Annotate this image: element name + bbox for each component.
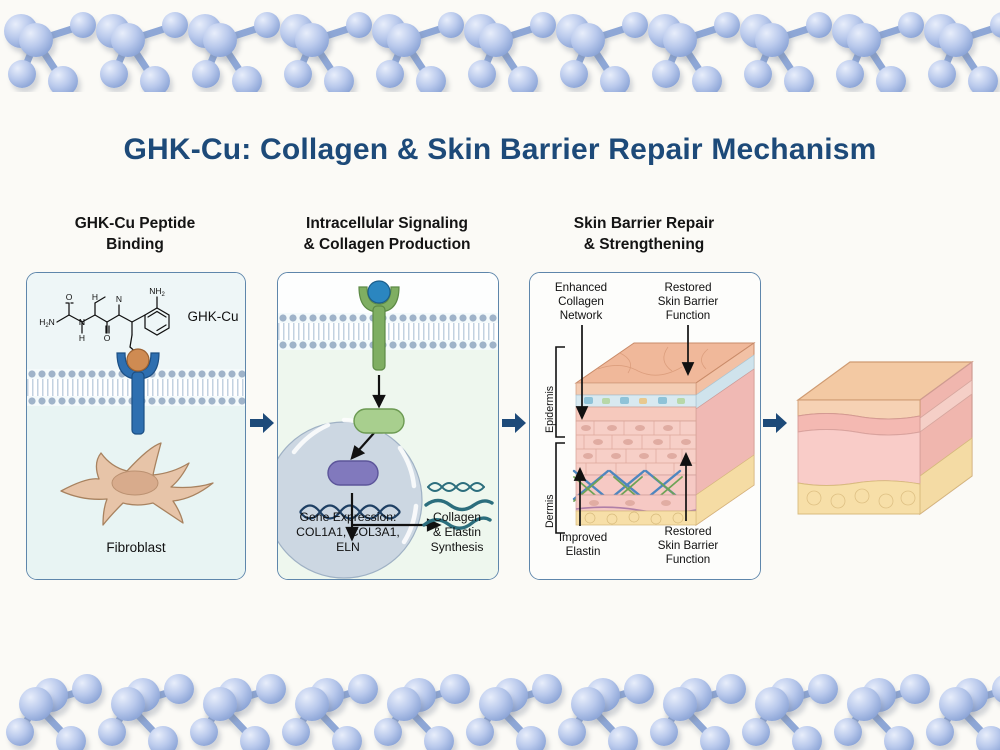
molecule-atom xyxy=(700,726,730,750)
molecule-atom xyxy=(232,66,262,92)
molecule-atom xyxy=(926,718,954,746)
decorative-molecule xyxy=(912,660,1000,750)
molecule-atom xyxy=(558,718,586,746)
molecule-central-atom xyxy=(295,23,329,57)
decorative-molecule xyxy=(728,0,824,86)
molecule-central-atom xyxy=(755,23,789,57)
molecule-central-atom xyxy=(387,687,421,721)
molecule-atom xyxy=(424,726,454,750)
molecule-atom xyxy=(884,726,914,750)
synthesis-line1: Collagen xyxy=(418,510,496,525)
molecule-atom xyxy=(600,66,630,92)
chem-label-nh-1: H xyxy=(79,333,85,343)
molecule-atom xyxy=(692,66,722,92)
molecule-central-atom xyxy=(479,23,513,57)
panel-heading-line1: Skin Barrier Repair xyxy=(528,213,760,234)
signal-protein-green xyxy=(354,409,404,433)
transcription-factor-purple xyxy=(328,461,378,485)
molecule-atom xyxy=(192,60,220,88)
molecule-atom xyxy=(6,718,34,746)
molecule-atom xyxy=(990,12,1000,38)
decorative-molecule xyxy=(0,660,88,750)
panel-heading-line2: & Strengthening xyxy=(528,234,760,255)
fibroblast-cell xyxy=(49,433,225,533)
panel-heading-peptide-binding: GHK-Cu Peptide Binding xyxy=(25,213,245,256)
molecule-central-atom xyxy=(203,687,237,721)
molecule-atom xyxy=(48,66,78,92)
diagram-canvas: GHK-Cu: Collagen & Skin Barrier Repair M… xyxy=(0,0,1000,750)
panel-heading-line1: GHK-Cu Peptide xyxy=(25,213,245,234)
molecule-central-atom xyxy=(111,23,145,57)
panel-skin-barrier-repair: Enhanced Collagen Network Restored Skin … xyxy=(529,272,761,580)
molecule-atom xyxy=(744,60,772,88)
molecule-central-atom xyxy=(387,23,421,57)
decorative-molecule xyxy=(820,660,916,750)
decorative-molecule xyxy=(636,0,732,86)
molecule-atom xyxy=(560,60,588,88)
molecule-atom xyxy=(240,726,270,750)
gene-expression-line2: COL1A1, COL3A1, xyxy=(284,525,412,540)
chem-label-h2n: H2N xyxy=(39,317,55,329)
decorative-molecule-band-top xyxy=(0,0,1000,92)
synthesis-line2: & Elastin xyxy=(418,525,496,540)
molecule-atom xyxy=(468,60,496,88)
molecule-atom xyxy=(282,718,310,746)
molecule-atom xyxy=(516,726,546,750)
molecule-central-atom xyxy=(111,687,145,721)
synthesis-label: Collagen & Elastin Synthesis xyxy=(418,510,496,555)
molecule-central-atom xyxy=(939,687,973,721)
leader-lines xyxy=(530,273,760,579)
molecule-atom xyxy=(374,718,402,746)
molecule-atom xyxy=(784,66,814,92)
molecule-central-atom xyxy=(755,687,789,721)
gene-expression-label: Gene Expression: COL1A1, COL3A1, ELN xyxy=(284,510,412,555)
molecule-atom xyxy=(652,60,680,88)
decorative-molecule xyxy=(452,0,548,86)
decorative-molecule xyxy=(636,660,732,750)
molecule-atom xyxy=(140,66,170,92)
molecule-atom xyxy=(968,66,998,92)
molecule-atom xyxy=(332,726,362,750)
molecule-atom xyxy=(98,718,126,746)
decorative-molecule xyxy=(544,0,640,86)
molecule-atom xyxy=(650,718,678,746)
decorative-molecule xyxy=(452,660,548,750)
panel-heading-line2: & Collagen Production xyxy=(275,234,499,255)
molecule-central-atom xyxy=(19,23,53,57)
decorative-molecule xyxy=(0,0,88,86)
panel-heading-skin-barrier-repair: Skin Barrier Repair & Strengthening xyxy=(528,213,760,256)
molecule-atom xyxy=(508,66,538,92)
molecule-atom xyxy=(976,726,1000,750)
chem-label-oxygen-2: O xyxy=(104,333,111,343)
molecule-atom xyxy=(8,60,36,88)
decorative-molecule xyxy=(84,660,180,750)
molecule-atom xyxy=(928,60,956,88)
panel-peptide-binding: H2N O H N N H O N NH2 GHK-Cu Fibroblast xyxy=(26,272,246,580)
chem-label-h-top: H xyxy=(92,292,98,302)
decorative-molecule xyxy=(268,0,364,86)
chem-label-oxygen-1: O xyxy=(66,292,73,302)
molecule-atom xyxy=(608,726,638,750)
molecule-central-atom xyxy=(295,687,329,721)
molecule-atom xyxy=(792,726,822,750)
molecule-atom xyxy=(100,60,128,88)
molecule-central-atom xyxy=(663,23,697,57)
panel-heading-line1: Intracellular Signaling xyxy=(275,213,499,234)
molecule-central-atom xyxy=(939,23,973,57)
gene-expression-line3: ELN xyxy=(284,540,412,555)
arrow-panel3-to-result xyxy=(762,410,788,436)
molecule-atom xyxy=(876,66,906,92)
membrane-receptor-blue xyxy=(111,339,165,439)
panel-intracellular-signaling: Gene Expression: COL1A1, COL3A1, ELN Col… xyxy=(277,272,499,580)
panel-heading-line2: Binding xyxy=(25,234,245,255)
molecule-central-atom xyxy=(571,687,605,721)
panel-heading-intracellular-signaling: Intracellular Signaling & Collagen Produ… xyxy=(275,213,499,256)
molecule-atom xyxy=(836,60,864,88)
result-healthy-skin-block xyxy=(792,356,978,516)
decorative-molecule xyxy=(912,0,1000,86)
decorative-molecule xyxy=(728,660,824,750)
synthesis-line3: Synthesis xyxy=(418,540,496,555)
molecule-atom xyxy=(834,718,862,746)
molecule-central-atom xyxy=(19,687,53,721)
molecule-atom xyxy=(190,718,218,746)
molecule-label-ghk-cu: GHK-Cu xyxy=(187,309,238,324)
decorative-molecule-band-bottom xyxy=(0,658,1000,750)
molecule-central-atom xyxy=(663,687,697,721)
decorative-molecule xyxy=(820,0,916,86)
molecule-central-atom xyxy=(203,23,237,57)
molecule-atom xyxy=(376,60,404,88)
molecule-atom xyxy=(742,718,770,746)
molecule-atom xyxy=(324,66,354,92)
decorative-molecule xyxy=(176,660,272,750)
decorative-molecule xyxy=(360,0,456,86)
fibroblast-label: Fibroblast xyxy=(27,540,245,555)
arrow-panel1-to-panel2 xyxy=(249,410,275,436)
decorative-molecule xyxy=(268,660,364,750)
molecule-atom xyxy=(466,718,494,746)
decorative-molecule xyxy=(84,0,180,86)
molecule-atom xyxy=(148,726,178,750)
decorative-molecule xyxy=(360,660,456,750)
molecule-atom xyxy=(284,60,312,88)
molecule-central-atom xyxy=(847,23,881,57)
chem-label-n-1: N xyxy=(79,317,85,327)
decorative-molecule xyxy=(544,660,640,750)
molecule-central-atom xyxy=(479,687,513,721)
page-title: GHK-Cu: Collagen & Skin Barrier Repair M… xyxy=(0,133,1000,167)
molecule-central-atom xyxy=(571,23,605,57)
chem-label-n-2: N xyxy=(116,294,122,304)
decorative-molecule xyxy=(176,0,272,86)
copper-ion-sphere xyxy=(127,349,149,371)
molecule-atom xyxy=(56,726,86,750)
molecule-central-atom xyxy=(847,687,881,721)
molecule-atom xyxy=(992,674,1000,704)
arrow-panel2-to-panel3 xyxy=(501,410,527,436)
gene-expression-line1: Gene Expression: xyxy=(284,510,412,525)
chem-label-nh2: NH2 xyxy=(149,286,165,298)
molecule-atom xyxy=(416,66,446,92)
